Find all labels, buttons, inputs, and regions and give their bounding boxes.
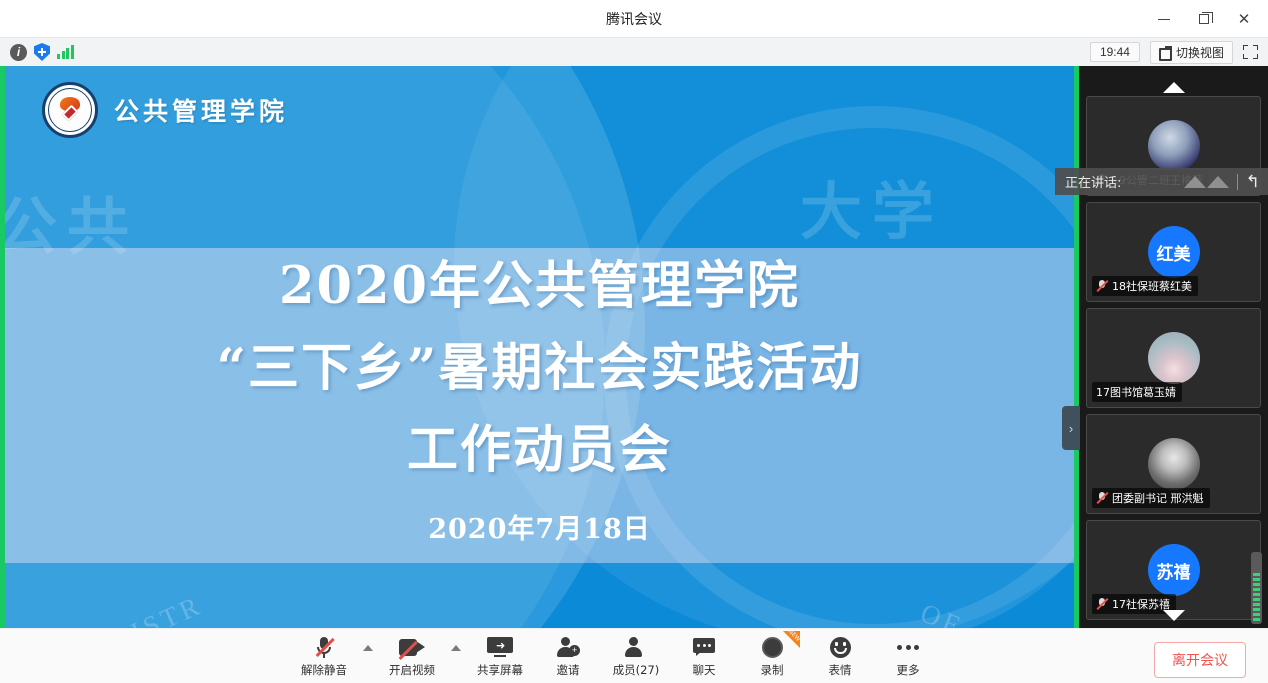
chevron-up-icon[interactable]: [358, 629, 378, 683]
shield-plus-icon[interactable]: [34, 43, 50, 61]
meeting-clock: 19:44: [1090, 42, 1140, 62]
avatar: 苏禧: [1148, 544, 1200, 596]
title-bar: 腾讯会议 ✕: [0, 0, 1268, 38]
collapse-filmstrip-button[interactable]: ›: [1062, 406, 1080, 450]
emoji-smile-icon: [830, 635, 851, 659]
slide-title-line-1: 2020年公共管理学院: [5, 261, 1074, 312]
slide-header: 公共管理学院: [42, 82, 288, 138]
scroll-up-arrow[interactable]: [1079, 78, 1268, 96]
meeting-toolbar: 解除静音开启视频➜共享屏幕+邀请成员(27)聊天NEW录制表情更多 离开会议: [0, 628, 1268, 683]
toolbar-button-label: 邀请: [557, 662, 580, 678]
screen-share-border-right: [1074, 66, 1079, 628]
university-crest-icon: [42, 82, 98, 138]
window-controls: ✕: [1144, 0, 1264, 38]
camera-off-icon: [399, 635, 425, 659]
maximize-icon: [1199, 14, 1209, 24]
participant-tile[interactable]: 红美18社保班蔡红美: [1086, 202, 1261, 302]
close-button[interactable]: ✕: [1224, 4, 1264, 34]
screen-share-border-left: [0, 66, 5, 628]
avatar: [1148, 332, 1200, 384]
participant-name: 团委副书记 邢洪魁: [1112, 490, 1204, 506]
slide-title-line-3: 工作动员会: [5, 425, 1074, 476]
more-dots-icon: [897, 635, 919, 659]
window-title: 腾讯会议: [0, 0, 1268, 38]
meeting-window: 腾讯会议 ✕ i 19:44 切换视图: [0, 0, 1268, 683]
switch-view-button[interactable]: 切换视图: [1150, 41, 1233, 64]
reply-arrow-icon[interactable]: ↰: [1246, 173, 1260, 190]
participant-filmstrip: 19公管二班王格菲红美18社保班蔡红美17图书馆葛玉婧团委副书记 邢洪魁苏禧17…: [1079, 66, 1268, 628]
participant-name-label: 18社保班蔡红美: [1092, 276, 1198, 296]
toolbar-items: 解除静音开启视频➜共享屏幕+邀请成员(27)聊天NEW录制表情更多: [290, 629, 942, 683]
toolbar-button-record[interactable]: NEW录制: [738, 629, 806, 683]
leave-meeting-button[interactable]: 离开会议: [1154, 642, 1246, 678]
speaking-divider: [1237, 174, 1238, 190]
toolbar-button-label: 解除静音: [301, 662, 347, 678]
toolbar-button-camera-off[interactable]: 开启视频: [378, 629, 446, 683]
toolbar-button-more-dots[interactable]: 更多: [874, 629, 942, 683]
participant-name-label: 17图书馆葛玉婧: [1092, 382, 1182, 402]
toolbar-button-participants[interactable]: 成员(27): [602, 629, 670, 683]
toolbar-button-label: 开启视频: [389, 662, 435, 678]
toolbar-button-invite-person[interactable]: +邀请: [534, 629, 602, 683]
stage-area: 公共 大学 ADMINISTR OF PUBLIC 公共管理学院 2020年公共…: [0, 66, 1268, 628]
shared-slide[interactable]: 公共 大学 ADMINISTR OF PUBLIC 公共管理学院 2020年公共…: [5, 66, 1074, 628]
close-icon: ✕: [1238, 12, 1251, 27]
participants-icon: [624, 635, 648, 659]
toolbar-button-label: 共享屏幕: [477, 662, 523, 678]
slide-body: 2020年公共管理学院 “三下乡”暑期社会实践活动 工作动员会 2020年7月1…: [5, 261, 1074, 546]
chat-bubble-icon: [693, 635, 715, 659]
avatar: 红美: [1148, 226, 1200, 278]
participant-name: 17图书馆葛玉婧: [1096, 384, 1176, 400]
slide-date: 2020年7月18日: [5, 507, 1074, 546]
toolbar-button-label: 聊天: [693, 662, 716, 678]
watermark-cn-left: 公共: [5, 176, 139, 266]
record-icon: [762, 635, 783, 659]
participant-tile[interactable]: 苏禧17社保苏禧: [1086, 520, 1261, 620]
minimize-icon: [1158, 19, 1170, 20]
toolbar-button-label: 成员(27): [613, 662, 660, 678]
toolbar-button-share-screen[interactable]: ➜共享屏幕: [466, 629, 534, 683]
participant-name-label: 团委副书记 邢洪魁: [1092, 488, 1210, 508]
microphone-muted-icon: [1096, 279, 1108, 293]
participant-name: 18社保班蔡红美: [1112, 278, 1192, 294]
status-right-controls: 19:44 切换视图: [1090, 41, 1268, 64]
network-meter-icon: [1251, 552, 1262, 624]
invite-person-icon: +: [556, 635, 580, 659]
avatar: [1148, 120, 1200, 172]
microphone-muted-icon: [1096, 491, 1108, 505]
speaking-waveform-icon: [1184, 176, 1229, 188]
toolbar-button-label: 更多: [897, 662, 920, 678]
fullscreen-icon[interactable]: [1243, 45, 1258, 59]
toolbar-button-label: 录制: [761, 662, 784, 678]
chevron-up-icon[interactable]: [446, 629, 466, 683]
now-speaking-label: 正在讲话:: [1065, 172, 1121, 191]
participant-tile[interactable]: 团委副书记 邢洪魁: [1086, 414, 1261, 514]
info-icon[interactable]: i: [10, 44, 27, 61]
share-screen-icon: ➜: [487, 635, 513, 659]
crest-emblem-mark: [57, 97, 83, 123]
scroll-down-arrow[interactable]: [1079, 606, 1268, 624]
status-left-icons: i: [0, 43, 74, 61]
microphone-muted-icon: [316, 635, 332, 659]
toolbar-button-microphone-muted[interactable]: 解除静音: [290, 629, 358, 683]
status-bar: i 19:44 切换视图: [0, 38, 1268, 66]
watermark-cn-right: 大学: [800, 161, 944, 251]
participant-tile[interactable]: 17图书馆葛玉婧: [1086, 308, 1261, 408]
now-speaking-bar: 正在讲话: ↰: [1055, 168, 1268, 195]
minimize-button[interactable]: [1144, 4, 1184, 34]
participant-tiles: 19公管二班王格菲红美18社保班蔡红美17图书馆葛玉婧团委副书记 邢洪魁苏禧17…: [1079, 66, 1268, 626]
maximize-button[interactable]: [1184, 4, 1224, 34]
slide-header-title: 公共管理学院: [114, 92, 288, 128]
switch-view-label: 切换视图: [1176, 44, 1224, 61]
signal-strength-icon[interactable]: [57, 45, 74, 59]
toolbar-button-emoji-smile[interactable]: 表情: [806, 629, 874, 683]
slide-title-line-2: “三下乡”暑期社会实践活动: [5, 343, 1074, 394]
switch-view-icon: [1159, 46, 1172, 58]
toolbar-button-chat-bubble[interactable]: 聊天: [670, 629, 738, 683]
avatar: [1148, 438, 1200, 490]
toolbar-button-label: 表情: [829, 662, 852, 678]
